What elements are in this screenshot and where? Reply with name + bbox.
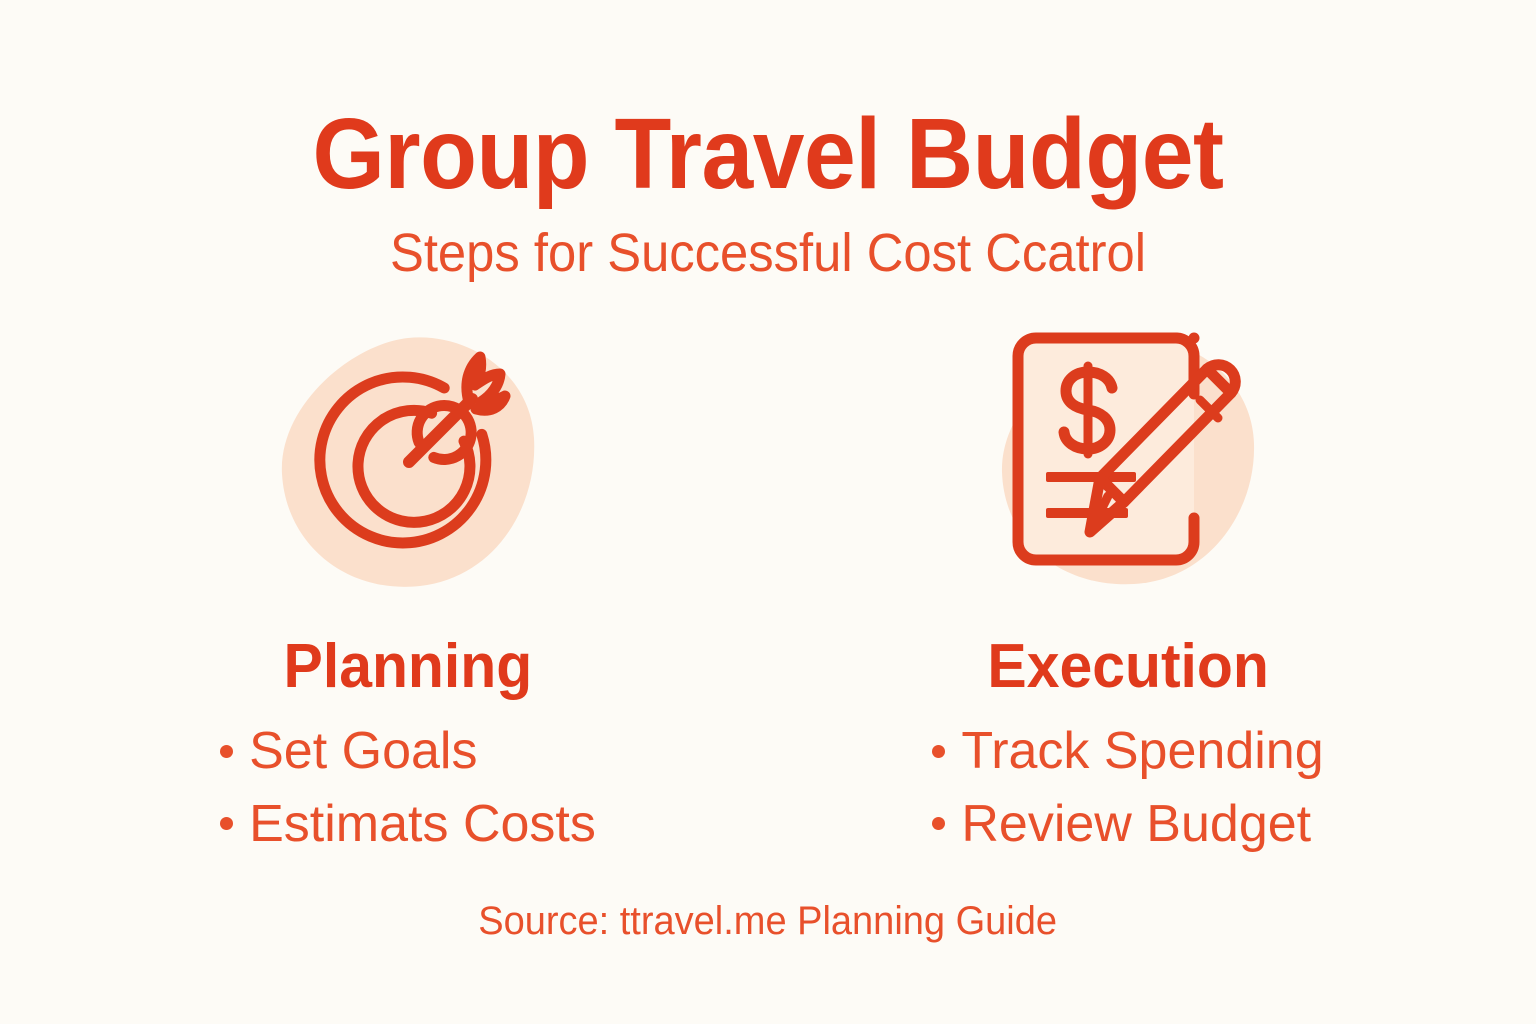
document-dollar-pencil-icon <box>988 322 1268 602</box>
bullet-dot-icon <box>932 745 945 758</box>
columns-container: Planning Set Goals Estimats Costs <box>0 322 1536 851</box>
bullet-label: Track Spending <box>961 724 1323 779</box>
list-item: Track Spending <box>932 724 1323 779</box>
bullet-label: Estimats Costs <box>249 797 596 852</box>
column-execution: Execution Track Spending Review Budget <box>918 322 1338 851</box>
bullet-dot-icon <box>220 745 233 758</box>
list-item: Estimats Costs <box>220 797 596 852</box>
bullet-dot-icon <box>932 817 945 830</box>
list-item: Review Budget <box>932 797 1311 852</box>
column-heading-planning: Planning <box>284 636 533 698</box>
source-attribution: Source: ttravel.me Planning Guide <box>479 899 1058 944</box>
column-planning: Planning Set Goals Estimats Costs <box>198 322 618 851</box>
bullet-label: Set Goals <box>249 724 477 779</box>
bullet-list-planning: Set Goals Estimats Costs <box>220 724 596 851</box>
bullet-dot-icon <box>220 817 233 830</box>
bullet-label: Review Budget <box>961 797 1311 852</box>
bullet-list-execution: Track Spending Review Budget <box>932 724 1323 851</box>
list-item: Set Goals <box>220 724 477 779</box>
infographic-poster: Group Travel Budget Steps for Successful… <box>0 0 1536 1024</box>
poster-header: Group Travel Budget Steps for Successful… <box>0 104 1536 280</box>
page-title: Group Travel Budget <box>54 104 1482 204</box>
column-heading-execution: Execution <box>987 636 1268 698</box>
target-arrow-icon <box>268 322 548 602</box>
page-subtitle: Steps for Successful Cost Ccatrol <box>46 226 1490 280</box>
